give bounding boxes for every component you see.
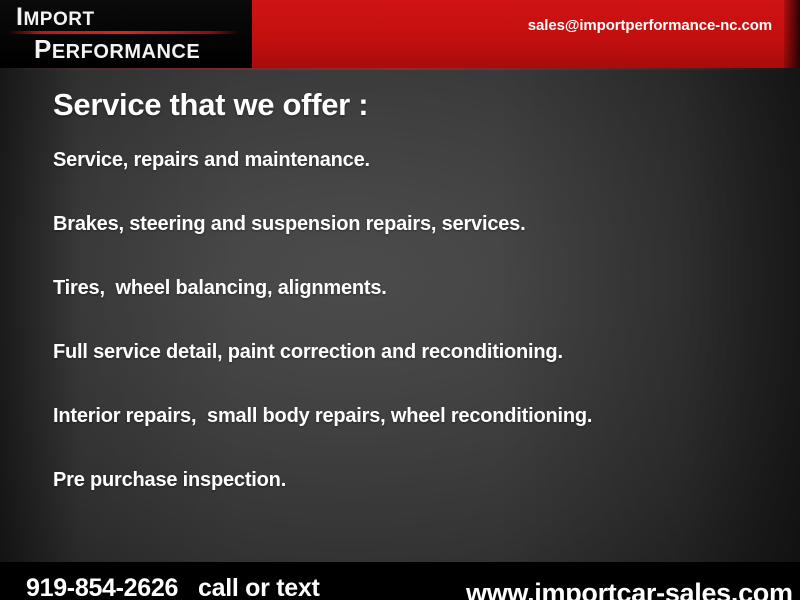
logo-line-import: IMPORT [16, 5, 95, 30]
service-list-item: Brakes, steering and suspension repairs,… [53, 214, 773, 234]
brand-logo[interactable]: IMPORT PERFORMANCE [0, 0, 252, 68]
logo-import-rest: MPORT [23, 9, 94, 30]
service-list: Service, repairs and maintenance.Brakes,… [53, 150, 773, 534]
page-header: IMPORT PERFORMANCE sales@importperforman… [0, 0, 800, 68]
slide-body: Service that we offer : Service, repairs… [0, 70, 800, 562]
logo-line-performance: PERFORMANCE [34, 36, 200, 62]
logo-performance-rest: ERFORMANCE [52, 41, 200, 63]
service-list-item: Service, repairs and maintenance. [53, 150, 773, 170]
header-right-edge-shadow [784, 0, 800, 68]
contact-email[interactable]: sales@importperformance-nc.com [528, 17, 772, 34]
slide-canvas: IMPORT PERFORMANCE sales@importperforman… [0, 0, 800, 600]
page-title: Service that we offer : [53, 87, 368, 123]
service-list-item: Interior repairs, small body repairs, wh… [53, 406, 773, 426]
service-list-item: Tires, wheel balancing, alignments. [53, 278, 773, 298]
service-list-item: Full service detail, paint correction an… [53, 342, 773, 362]
footer-website[interactable]: www.importcar-sales.com [466, 578, 793, 600]
logo-performance-initial: P [34, 34, 52, 64]
footer-phone[interactable]: 919-854-2626 call or text [26, 574, 319, 600]
service-list-item: Pre purchase inspection. [53, 470, 773, 490]
page-footer: 919-854-2626 call or text www.importcar-… [0, 562, 800, 600]
